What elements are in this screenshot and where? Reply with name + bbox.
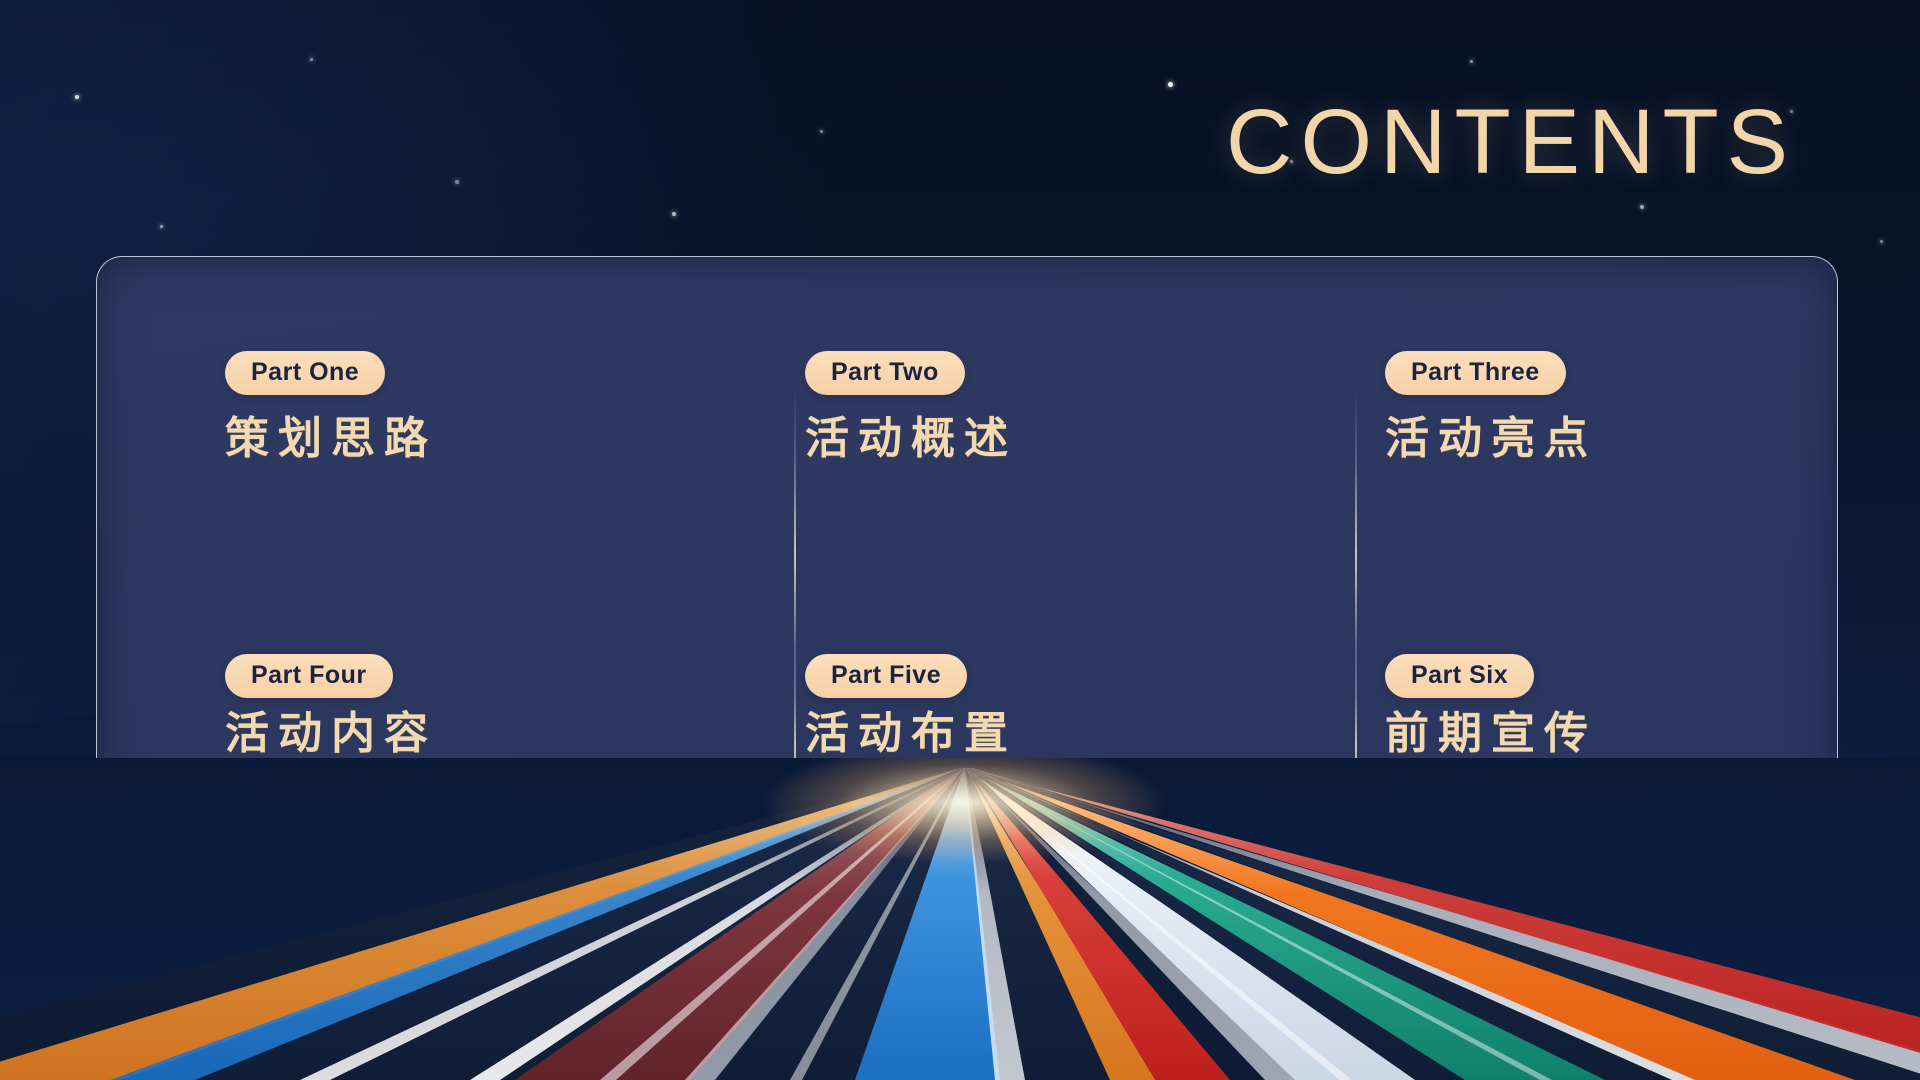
content-item-3[interactable]: Part Three 活动亮点 — [1257, 257, 1837, 554]
slide-root: CONTENTS Part One 策划思路 Part Two 活动概述 Par… — [0, 0, 1920, 1080]
part-badge-three[interactable]: Part Three — [1385, 351, 1566, 395]
part-label-three: 活动亮点 — [1385, 417, 1837, 461]
part-label-six: 前期宣传 — [1385, 712, 1837, 756]
star-dot — [820, 130, 823, 133]
star-dot — [160, 225, 163, 228]
star-dot — [672, 212, 676, 216]
star-dot — [1880, 240, 1883, 243]
part-badge-one[interactable]: Part One — [225, 351, 385, 395]
part-badge-six[interactable]: Part Six — [1385, 654, 1534, 698]
content-item-2[interactable]: Part Two 活动概述 — [677, 257, 1257, 554]
star-dot — [1470, 60, 1473, 63]
star-dot — [310, 58, 313, 61]
page-title: CONTENTS — [1226, 96, 1796, 188]
part-label-two: 活动概述 — [805, 417, 1257, 461]
star-dot — [1168, 82, 1173, 87]
road-stripes — [0, 758, 1920, 1080]
part-label-four: 活动内容 — [225, 712, 677, 756]
part-label-one: 策划思路 — [225, 417, 677, 461]
part-label-five: 活动布置 — [805, 712, 1257, 756]
part-badge-five[interactable]: Part Five — [805, 654, 967, 698]
star-dot — [75, 95, 79, 99]
content-item-1[interactable]: Part One 策划思路 — [97, 257, 677, 554]
star-dot — [1640, 205, 1644, 209]
part-badge-four[interactable]: Part Four — [225, 654, 393, 698]
perspective-road-graphic — [0, 758, 1920, 1080]
star-dot — [455, 180, 459, 184]
part-badge-two[interactable]: Part Two — [805, 351, 965, 395]
